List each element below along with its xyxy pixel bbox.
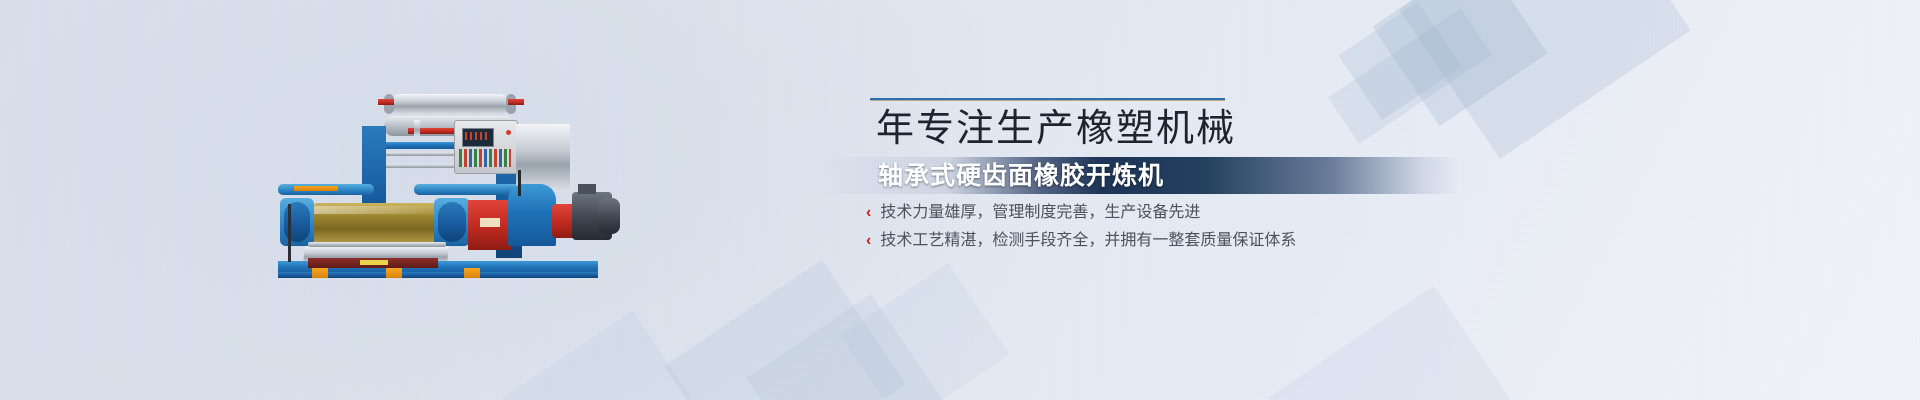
- machine-control-panel-keypad: [459, 149, 511, 167]
- machine-base-pad-3: [464, 268, 480, 278]
- feature-bullet-label: 技术工艺精湛，检测手段齐全，并拥有一整套质量保证体系: [880, 232, 1296, 249]
- page-title: 年专注生产橡塑机械: [876, 106, 1276, 152]
- product-subtitle: 轴承式硬齿面橡胶开炼机: [878, 160, 1438, 192]
- feature-bullet: ‹技术力量雄厚，管理制度完善，生产设备先进: [866, 203, 1200, 223]
- machine-base-pad-2: [386, 268, 402, 278]
- machine-motor-fan-cowl: [598, 198, 620, 234]
- machine-top-roller-bracket-left: [378, 99, 394, 105]
- machine-main-roller-highlight: [314, 206, 436, 214]
- machine-tray-rail: [308, 242, 446, 247]
- title-divider: [870, 98, 1225, 101]
- machine-control-panel-display-text: [465, 132, 487, 140]
- machine-blade-arm-left: [414, 120, 420, 136]
- machine-safety-bar-stripe: [294, 186, 338, 191]
- chevron-left-icon: ‹: [866, 232, 871, 249]
- machine-bearing-cap-right: [438, 202, 466, 242]
- feature-bullet: ‹技术工艺精湛，检测手段齐全，并拥有一整套质量保证体系: [866, 231, 1296, 251]
- machine-control-panel-indicator: [506, 130, 511, 135]
- watermark-shape-bottom-left-1: [500, 311, 700, 400]
- machine-top-roller-bracket-right: [508, 99, 524, 105]
- machine-safety-bar-right: [414, 184, 524, 195]
- machine-chain: [288, 204, 291, 262]
- machine-cabinet: [516, 124, 570, 190]
- machine-base-pad-1: [312, 268, 328, 278]
- machine-base-label: [360, 260, 388, 265]
- product-image: [268, 86, 620, 278]
- banner-text-block: 年专注生产橡塑机械 轴承式硬齿面橡胶开炼机 ‹技术力量雄厚，管理制度完善，生产设…: [820, 0, 1520, 400]
- machine-cable: [518, 170, 521, 196]
- machine-motor-terminal-box: [578, 184, 596, 194]
- product-banner: 年专注生产橡塑机械 轴承式硬齿面橡胶开炼机 ‹技术力量雄厚，管理制度完善，生产设…: [0, 0, 1920, 400]
- machine-gearbox-plate: [480, 218, 500, 227]
- feature-bullet-label: 技术力量雄厚，管理制度完善，生产设备先进: [880, 204, 1200, 221]
- machine-top-roller: [390, 94, 510, 114]
- chevron-left-icon: ‹: [866, 204, 871, 221]
- machine-drive-housing: [508, 184, 556, 246]
